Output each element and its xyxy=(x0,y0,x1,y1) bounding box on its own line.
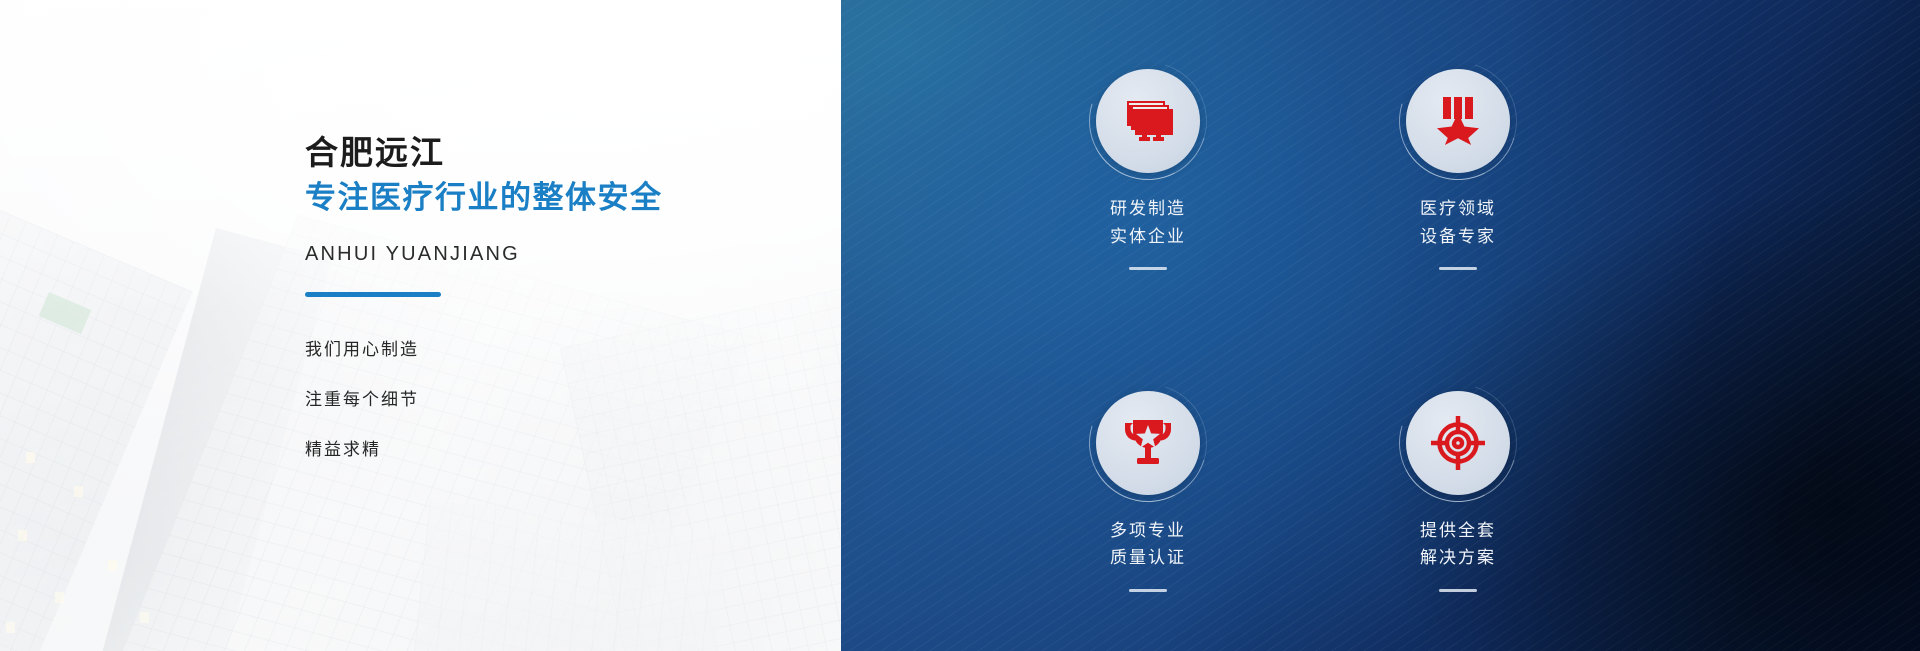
caption-line-1: 医疗领域 xyxy=(1420,195,1496,223)
trophy-icon xyxy=(1121,417,1175,469)
feature-grid: 研发制造 实体企业 xyxy=(993,0,1613,651)
company-pinyin: ANHUI YUANJIANG xyxy=(305,243,775,266)
icon-ring-wrap-1 xyxy=(1096,69,1200,173)
caption-dash xyxy=(1129,589,1167,592)
slogan-item: 精益求精 xyxy=(305,441,775,458)
feature-card-1[interactable]: 研发制造 实体企业 xyxy=(993,0,1303,326)
right-panel: 研发制造 实体企业 xyxy=(841,0,1920,651)
icon-disc-4 xyxy=(1406,391,1510,495)
feature-card-2[interactable]: 医疗领域 设备专家 xyxy=(1303,0,1613,326)
caption-line-1: 研发制造 xyxy=(1110,195,1186,223)
caption-line-1: 多项专业 xyxy=(1110,517,1186,545)
caption-line-2: 质量认证 xyxy=(1110,544,1186,572)
caption-line-2: 实体企业 xyxy=(1110,223,1186,251)
caption-dash xyxy=(1129,267,1167,270)
slogan-list: 我们用心制造 注重每个细节 精益求精 xyxy=(305,341,775,458)
company-name: 合肥远江 xyxy=(305,132,775,173)
caption-line-2: 设备专家 xyxy=(1420,223,1496,251)
caption-dash xyxy=(1439,589,1477,592)
feature-caption-3: 多项专业 质量认证 xyxy=(1110,517,1186,572)
slogan-item: 注重每个细节 xyxy=(305,391,775,408)
target-icon xyxy=(1430,415,1486,471)
feature-card-3[interactable]: 多项专业 质量认证 xyxy=(993,326,1303,651)
caption-dash xyxy=(1439,267,1477,270)
feature-caption-4: 提供全套 解决方案 xyxy=(1420,517,1496,572)
caption-line-2: 解决方案 xyxy=(1420,544,1496,572)
left-panel: 合肥远江 专注医疗行业的整体安全 ANHUI YUANJIANG 我们用心制造 … xyxy=(0,0,841,651)
icon-ring-wrap-3 xyxy=(1096,391,1200,495)
icon-ring-wrap-2 xyxy=(1406,69,1510,173)
divider-rule xyxy=(305,292,441,297)
medal-star-icon xyxy=(1433,95,1483,147)
icon-disc-2 xyxy=(1406,69,1510,173)
promo-banner: 合肥远江 专注医疗行业的整体安全 ANHUI YUANJIANG 我们用心制造 … xyxy=(0,0,1920,651)
headline-block: 合肥远江 专注医疗行业的整体安全 ANHUI YUANJIANG 我们用心制造 … xyxy=(305,132,775,458)
icon-ring-wrap-4 xyxy=(1406,391,1510,495)
icon-disc-1 xyxy=(1096,69,1200,173)
feature-caption-2: 医疗领域 设备专家 xyxy=(1420,195,1496,250)
icon-disc-3 xyxy=(1096,391,1200,495)
feature-card-4[interactable]: 提供全套 解决方案 xyxy=(1303,326,1613,651)
caption-line-1: 提供全套 xyxy=(1420,517,1496,545)
factory-icon xyxy=(1120,98,1176,144)
feature-caption-1: 研发制造 实体企业 xyxy=(1110,195,1186,250)
headline-tagline: 专注医疗行业的整体安全 xyxy=(305,177,775,219)
slogan-item: 我们用心制造 xyxy=(305,341,775,358)
